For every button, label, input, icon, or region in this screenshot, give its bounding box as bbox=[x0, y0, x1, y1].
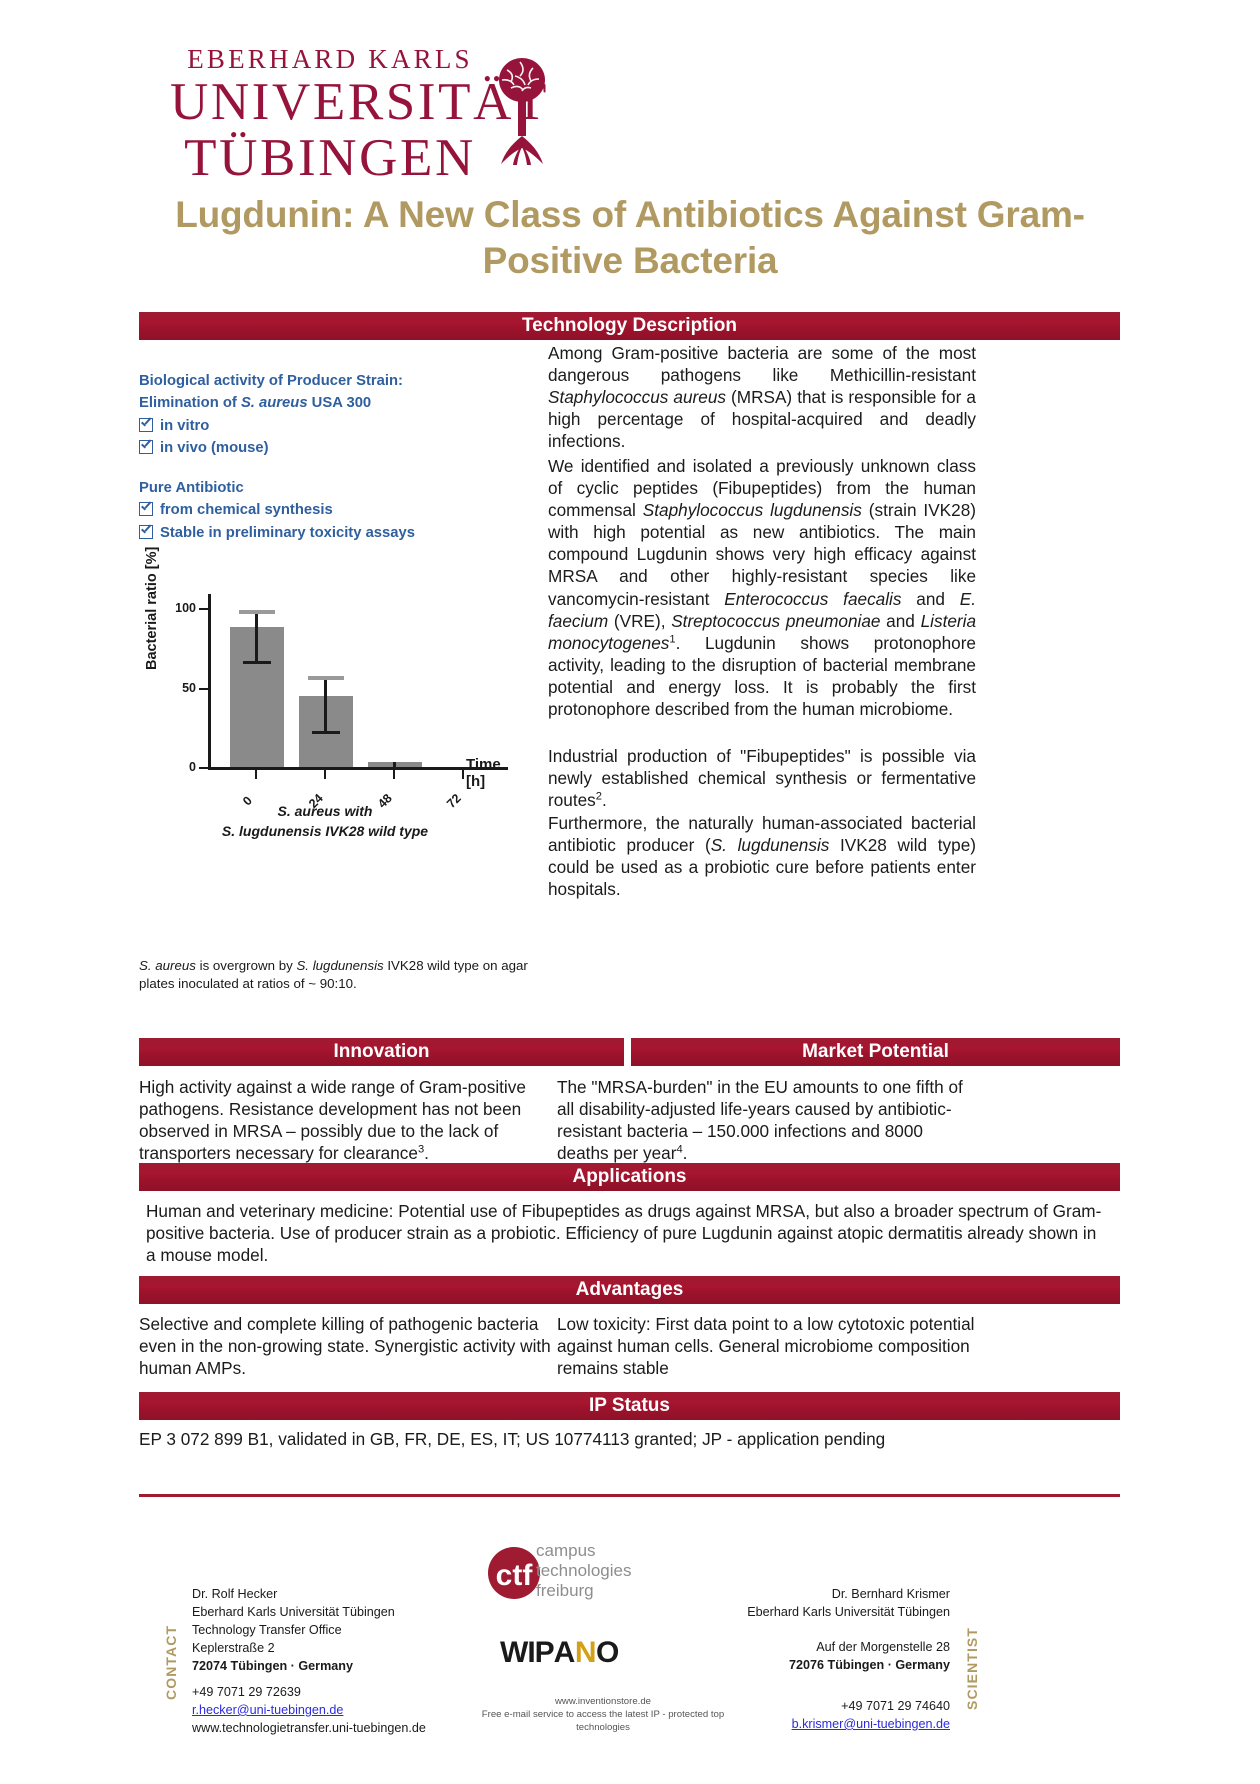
biological-activity-block: Biological activity of Producer Strain: … bbox=[139, 370, 509, 544]
contact-dept: Technology Transfer Office bbox=[192, 1622, 492, 1640]
section-header-technology-description: Technology Description bbox=[139, 312, 1120, 340]
contact-website[interactable]: www.technologietransfer.uni-tuebingen.de bbox=[192, 1720, 512, 1738]
tree-logo-icon bbox=[487, 52, 557, 167]
ctf-url[interactable]: www.inventionstore.de bbox=[478, 1696, 728, 1709]
footer-divider bbox=[139, 1494, 1120, 1497]
tech-description-paragraph-4: Furthermore, the naturally human-associa… bbox=[548, 812, 976, 900]
checkbox-item-in-vivo[interactable]: in vivo (mouse) bbox=[139, 437, 509, 459]
ip-status-text: EP 3 072 899 B1, validated in GB, FR, DE… bbox=[139, 1428, 1120, 1450]
ctf-line-campus: campus bbox=[536, 1541, 631, 1561]
advantages-left-text: Selective and complete killing of pathog… bbox=[139, 1313, 551, 1379]
checkbox-item-in-vitro[interactable]: in vitro bbox=[139, 415, 509, 437]
chart-plot-area: 100 50 0 0 24 48 72 bbox=[208, 594, 458, 770]
checkbox-label: from chemical synthesis bbox=[160, 499, 333, 521]
ctf-url-and-tagline: www.inventionstore.de Free e-mail servic… bbox=[478, 1696, 728, 1735]
ctf-tagline: Free e-mail service to access the latest… bbox=[478, 1709, 728, 1735]
chart-x-axis-label: Time [h] bbox=[466, 756, 520, 790]
applications-text: Human and veterinary medicine: Potential… bbox=[146, 1200, 1106, 1266]
chart-caption-line2: S. lugdunensis IVK28 wild type bbox=[140, 822, 510, 841]
section-header-innovation: Innovation bbox=[139, 1038, 624, 1066]
chart-y-tick-label-50: 50 bbox=[164, 681, 196, 695]
chart-errorbar-0h bbox=[255, 612, 258, 662]
pure-antibiotic-title: Pure Antibiotic bbox=[139, 477, 509, 499]
chart-x-tick bbox=[393, 770, 395, 779]
checkbox-item-stable-toxicity[interactable]: Stable in preliminary toxicity assays bbox=[139, 522, 509, 544]
checkbox-label: in vitro bbox=[160, 415, 209, 437]
bio-activity-title: Biological activity of Producer Strain: bbox=[139, 370, 509, 392]
scientist-org: Eberhard Karls Universität Tübingen bbox=[640, 1604, 950, 1622]
chart-y-tick-label-100: 100 bbox=[164, 601, 196, 615]
chart-caption-line1: S. aureus with bbox=[140, 802, 510, 821]
chart-x-tick bbox=[462, 770, 464, 779]
section-header-advantages: Advantages bbox=[139, 1276, 1120, 1304]
innovation-text: High activity against a wide range of Gr… bbox=[139, 1076, 551, 1164]
contact-name: Dr. Rolf Hecker bbox=[192, 1586, 492, 1604]
ctf-line-freiburg: freiburg bbox=[536, 1581, 631, 1601]
logo-line-eberhard-karls: EBERHARD KARLS bbox=[170, 46, 490, 73]
contact-street: Keplerstraße 2 bbox=[192, 1640, 492, 1658]
scientist-city: 72076 Tübingen · Germany bbox=[789, 1658, 950, 1672]
checkbox-label: Stable in preliminary toxicity assays bbox=[160, 522, 415, 544]
chart-x-tick bbox=[255, 770, 257, 779]
market-potential-text: The "MRSA-burden" in the EU amounts to o… bbox=[557, 1076, 977, 1164]
chart-y-tick bbox=[199, 688, 208, 690]
checkbox-checked-icon[interactable] bbox=[139, 502, 153, 516]
contact-city: 72074 Tübingen · Germany bbox=[192, 1659, 353, 1673]
contact-email-link[interactable]: r.hecker@uni-tuebingen.de bbox=[192, 1703, 343, 1717]
checkbox-label: in vivo (mouse) bbox=[160, 437, 269, 459]
contact-vertical-label: CONTACT bbox=[163, 1590, 179, 1700]
contact-details-block: +49 7071 29 72639 r.hecker@uni-tuebingen… bbox=[192, 1684, 512, 1738]
chart-errorbar-cap bbox=[312, 731, 340, 734]
advantages-right-text: Low toxicity: First data point to a low … bbox=[557, 1313, 987, 1379]
scientist-vertical-label: SCIENTIST bbox=[964, 1590, 980, 1710]
chart-errorbar-cap-top bbox=[239, 610, 275, 614]
flyer-page: EBERHARD KARLS UNIVERSITÄT TÜBINGEN Lugd… bbox=[0, 0, 1260, 1784]
contact-block: Dr. Rolf Hecker Eberhard Karls Universit… bbox=[192, 1586, 492, 1675]
scientist-email-link[interactable]: b.krismer@uni-tuebingen.de bbox=[792, 1717, 950, 1731]
wipano-wordmark: WIPANO bbox=[500, 1636, 619, 1670]
logo-line-universitaet: UNIVERSITÄT bbox=[170, 75, 490, 131]
checkbox-checked-icon[interactable] bbox=[139, 525, 153, 539]
chart-y-axis bbox=[208, 594, 211, 770]
section-header-applications: Applications bbox=[139, 1163, 1120, 1191]
chart-errorbar-48h bbox=[393, 762, 396, 768]
chart-y-tick-label-0: 0 bbox=[164, 760, 196, 774]
ctf-line-technologies: technologies bbox=[536, 1561, 631, 1581]
contact-phone: +49 7071 29 72639 bbox=[192, 1684, 512, 1702]
svg-text:ctf: ctf bbox=[496, 1559, 534, 1592]
tech-description-paragraph-1: Among Gram-positive bacteria are some of… bbox=[548, 342, 976, 452]
chart-y-tick bbox=[199, 608, 208, 610]
tech-description-paragraph-2: We identified and isolated a previously … bbox=[548, 455, 976, 720]
chart-y-tick bbox=[199, 767, 208, 769]
chart-errorbar-cap-top bbox=[308, 676, 344, 680]
ctf-wordmark: campus technologies freiburg bbox=[536, 1541, 631, 1601]
university-logo: EBERHARD KARLS UNIVERSITÄT TÜBINGEN bbox=[170, 46, 490, 186]
bio-activity-subtitle: Elimination of S. aureus USA 300 bbox=[139, 392, 509, 414]
checkbox-checked-icon[interactable] bbox=[139, 418, 153, 432]
logo-line-tuebingen: TÜBINGEN bbox=[170, 131, 490, 187]
section-header-ip-status: IP Status bbox=[139, 1392, 1120, 1420]
contact-org: Eberhard Karls Universität Tübingen bbox=[192, 1604, 492, 1622]
figure-caption: S. aureus is overgrown by S. lugdunensis… bbox=[139, 957, 539, 992]
scientist-street: Auf der Morgenstelle 28 bbox=[640, 1639, 950, 1657]
page-title: Lugdunin: A New Class of Antibiotics Aga… bbox=[140, 192, 1120, 285]
chart-errorbar-cap bbox=[243, 661, 271, 664]
bacterial-ratio-bar-chart: Bacterial ratio [%] 100 50 0 0 bbox=[150, 580, 520, 880]
tech-description-paragraph-3: Industrial production of "Fibupeptides" … bbox=[548, 745, 976, 811]
checkbox-item-chemical-synthesis[interactable]: from chemical synthesis bbox=[139, 499, 509, 521]
chart-errorbar-24h bbox=[324, 677, 327, 732]
chart-x-tick bbox=[324, 770, 326, 779]
checkbox-checked-icon[interactable] bbox=[139, 440, 153, 454]
section-header-market-potential: Market Potential bbox=[631, 1038, 1120, 1066]
chart-y-axis-label: Bacterial ratio [%] bbox=[144, 547, 160, 670]
